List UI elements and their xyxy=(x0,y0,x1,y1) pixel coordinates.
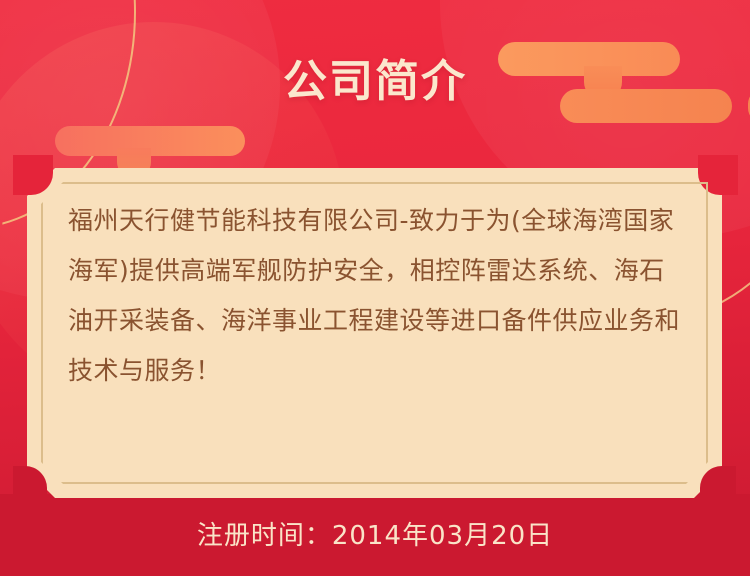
page-title: 公司简介 xyxy=(0,56,750,108)
company-intro-text: 福州天行健节能科技有限公司-致力于为(全球海湾国家海军)提供高端军舰防护安全，相… xyxy=(68,196,680,396)
registration-date-line: 注册时间：2014年03月20日 xyxy=(0,518,750,554)
poster-canvas: 公司简介 福州天行健节能科技有限公司-致力于为(全球海湾国家海军)提供高端军舰防… xyxy=(0,0,750,576)
card-corner-cut-top-right xyxy=(698,155,738,195)
